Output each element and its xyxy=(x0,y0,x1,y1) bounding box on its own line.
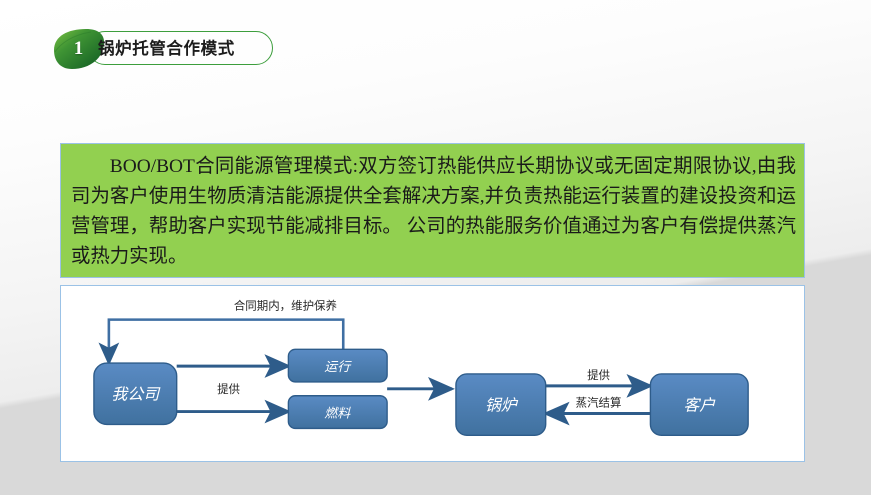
edge-label-maintenance: 合同期内，维护保养 xyxy=(234,299,337,313)
statement-box: BOO/BOT合同能源管理模式:双方签订热能供应长期协议或无固定期限协议,由我司… xyxy=(60,143,805,278)
node-fuel-label: 燃料 xyxy=(324,407,351,422)
node-company-label: 我公司 xyxy=(111,385,161,404)
node-customer-label: 客户 xyxy=(683,396,716,415)
slide-canvas: 1 锅炉托管合作模式 BOO/BOT合同能源管理模式:双方签订热能供应长期协议或… xyxy=(0,0,871,495)
node-boiler-label: 锅炉 xyxy=(485,396,519,415)
edge-label-settlement: 蒸汽结算 xyxy=(576,396,622,410)
edge-label-supply-left: 提供 xyxy=(217,382,240,396)
node-customer[interactable]: 客户 xyxy=(650,374,748,435)
edge-label-supply-right: 提供 xyxy=(587,368,610,382)
slide-header: 1 锅炉托管合作模式 xyxy=(46,26,286,72)
node-operation[interactable]: 运行 xyxy=(288,349,387,382)
node-operation-label: 运行 xyxy=(324,360,352,375)
node-company[interactable]: 我公司 xyxy=(94,363,177,424)
page-title: 锅炉托管合作模式 xyxy=(98,31,235,63)
process-diagram: 我公司 运行 燃料 锅炉 客户 合同期内，维护保养 提供 提供 xyxy=(60,285,805,462)
node-boiler[interactable]: 锅炉 xyxy=(456,374,546,435)
node-fuel[interactable]: 燃料 xyxy=(288,396,387,429)
